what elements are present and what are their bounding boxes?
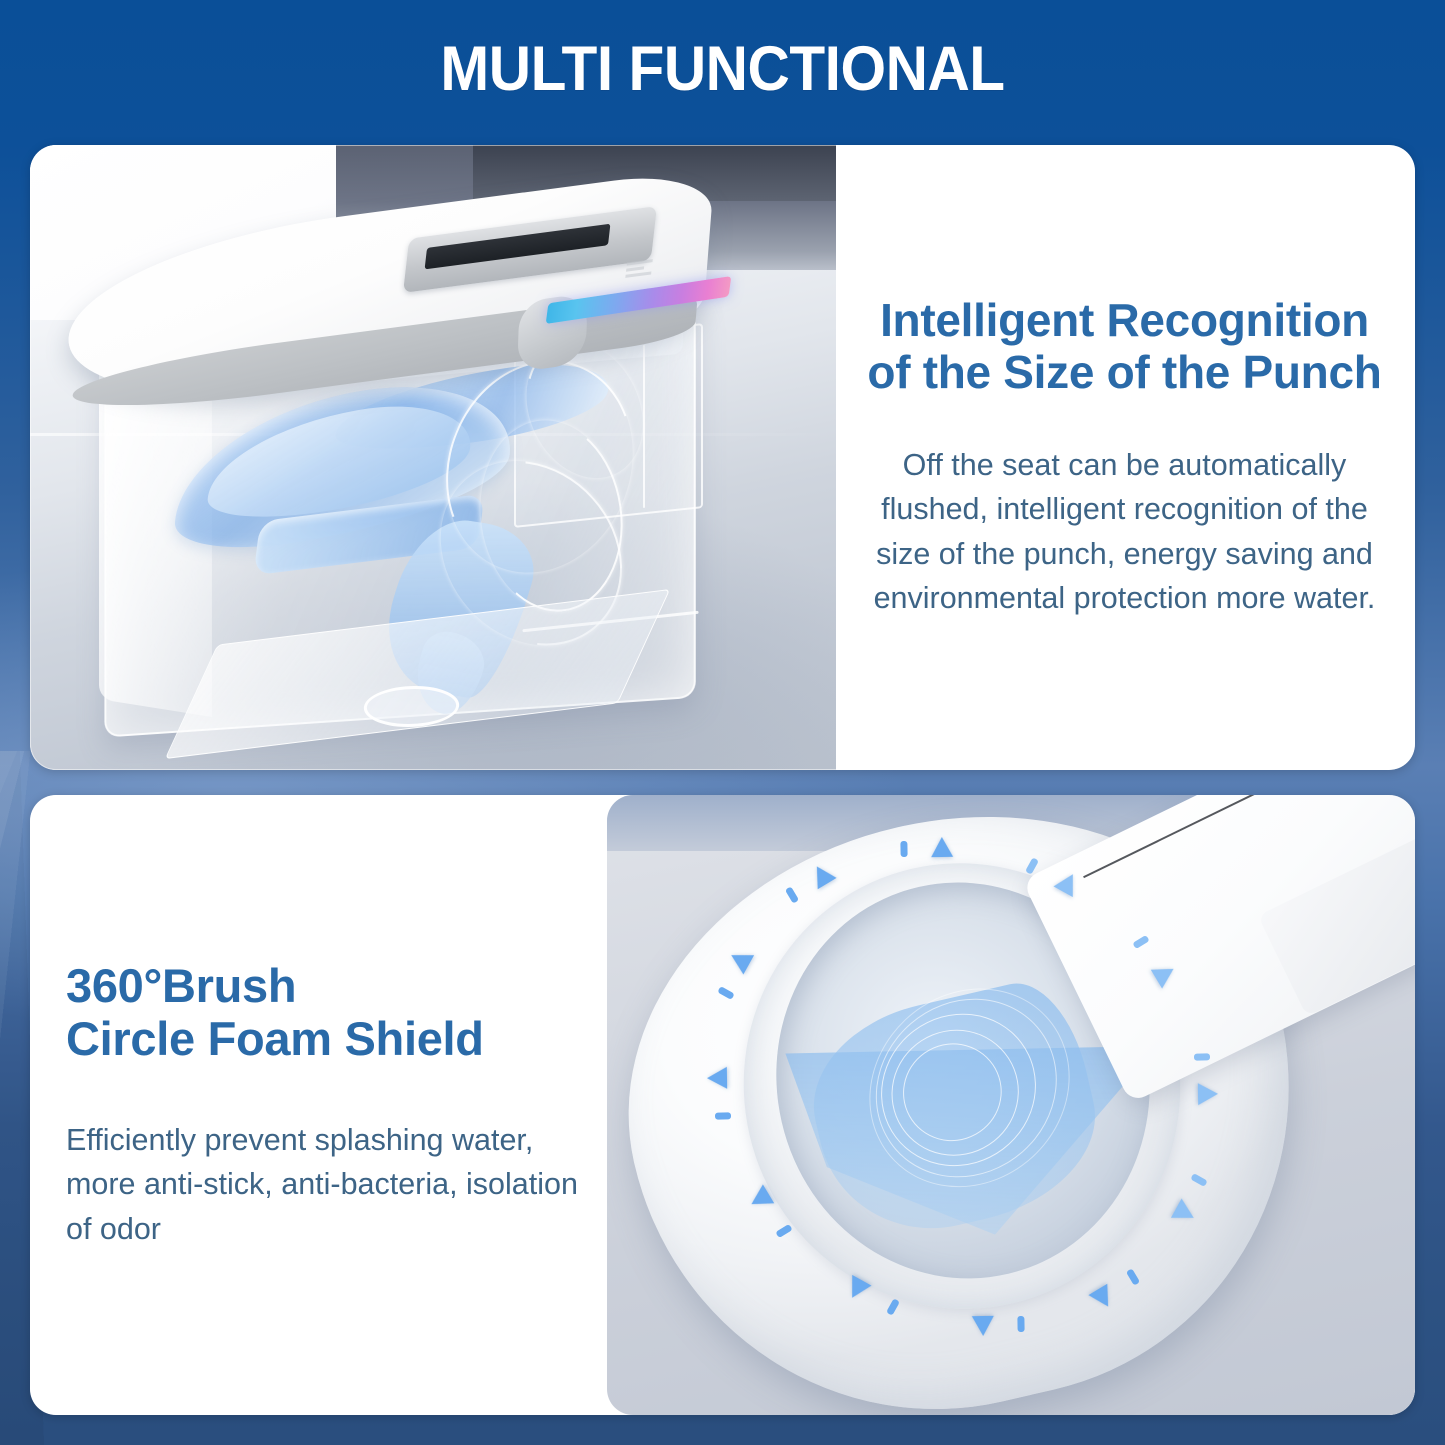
feature-card-circle-foam-shield: 360°Brush Circle Foam Shield Efficiently…	[30, 795, 1415, 1415]
feature-body-1: Off the seat can be automatically flushe…	[864, 443, 1385, 621]
circulation-arrow-tail	[1194, 1053, 1210, 1060]
circulation-arrow	[972, 1315, 994, 1335]
circulation-arrow-tail	[900, 841, 907, 857]
feature-image-bowl-topdown	[607, 795, 1415, 1415]
circulation-arrow-tail	[715, 1112, 731, 1119]
feature-title-2-line2: Circle Foam Shield	[66, 1012, 484, 1065]
circulation-arrow	[931, 837, 953, 857]
feature-title-2: 360°Brush Circle Foam Shield	[66, 959, 484, 1066]
feature-title-1: Intelligent Recognition of the Size of t…	[867, 294, 1381, 399]
feature-title-2-line1: 360°Brush	[66, 959, 296, 1012]
circulation-arrow	[707, 1067, 727, 1089]
feature-body-2: Efficiently prevent splashing water, mor…	[66, 1118, 607, 1252]
page-headline: MULTI FUNCTIONAL	[51, 24, 1395, 114]
infographic-page: MULTI FUNCTIONAL	[0, 0, 1445, 1445]
feature-text-panel-1: Intelligent Recognition of the Size of t…	[836, 145, 1415, 770]
circulation-arrow-tail	[1017, 1316, 1024, 1332]
brand-logo-icon	[626, 259, 654, 279]
circulation-arrow	[1198, 1083, 1218, 1105]
feature-image-cutaway-toilet	[30, 145, 836, 770]
feature-card-intelligent-recognition: Intelligent Recognition of the Size of t…	[30, 145, 1415, 770]
feature-text-panel-2: 360°Brush Circle Foam Shield Efficiently…	[30, 795, 607, 1415]
frame-rib-side	[643, 345, 646, 508]
feature-title-1-line1: Intelligent Recognition	[880, 294, 1369, 346]
feature-title-1-line2: of the Size of the Punch	[867, 346, 1381, 398]
